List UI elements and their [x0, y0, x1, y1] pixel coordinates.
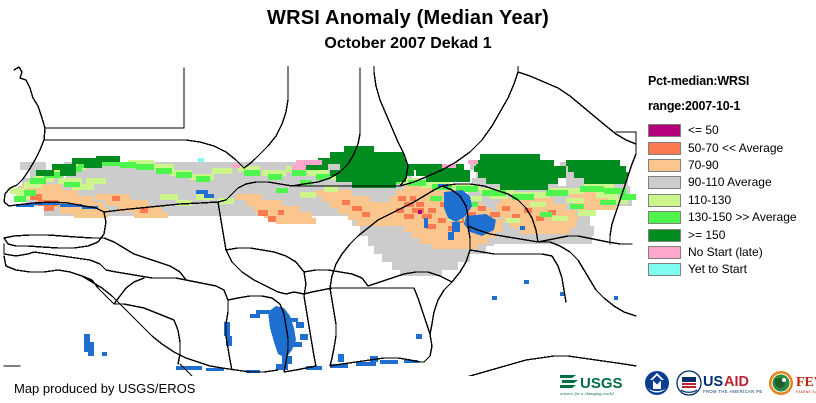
svg-text:FAMINE EARLY WARNING SYSTEMS N: FAMINE EARLY WARNING SYSTEMS NETWORK	[796, 390, 816, 394]
legend-swatch-yet-to-start	[648, 263, 681, 276]
legend-item-no-start[interactable]: No Start (late)	[648, 244, 816, 261]
class-lte-50	[418, 210, 422, 214]
legend-swatch-90-110	[648, 176, 681, 189]
legend-label-no-start: No Start (late)	[688, 246, 763, 259]
legend-label-50-70: 50-70 << Average	[688, 142, 783, 155]
map-credit: Map produced by USGS/EROS	[14, 381, 195, 396]
legend-items-list: <= 50 50-70 << Average 70-90 90-110 Aver…	[648, 122, 816, 279]
legend-swatch-110-130	[648, 194, 681, 207]
legend-label-110-130: 110-130	[688, 194, 731, 207]
legend-label-lte-50: <= 50	[688, 124, 719, 137]
noaa-logo-icon	[644, 369, 670, 397]
legend-range: range:2007-10-1	[648, 99, 816, 113]
fewsnet-logo[interactable]: FEWS NET FAMINE EARLY WARNING SYSTEMS NE…	[768, 369, 816, 397]
legend-swatch-70-90	[648, 159, 681, 172]
map-svg	[0, 66, 640, 376]
svg-text:FEWS NET: FEWS NET	[796, 375, 816, 390]
fewsnet-logo-icon: FEWS NET FAMINE EARLY WARNING SYSTEMS NE…	[768, 369, 816, 397]
legend-title: Pct-median:WRSI	[648, 74, 816, 88]
page-subtitle: October 2007 Dekad 1	[0, 34, 816, 54]
legend-panel: Pct-median:WRSI range:2007-10-1 <= 50 50…	[648, 74, 816, 279]
legend-swatch-no-start	[648, 246, 681, 259]
usgs-logo-icon: USGS science for a changing world	[558, 369, 638, 397]
usaid-logo[interactable]: US AID FROM THE AMERICAN PEOPLE	[676, 369, 762, 397]
legend-swatch-50-70	[648, 142, 681, 155]
legend-label-yet-to-start: Yet to Start	[688, 263, 747, 276]
usgs-logo[interactable]: USGS science for a changing world	[558, 369, 638, 397]
legend-item-yet-to-start[interactable]: Yet to Start	[648, 261, 816, 278]
legend-item-gte-150[interactable]: >= 150	[648, 226, 816, 243]
map-canvas[interactable]	[0, 66, 640, 376]
svg-text:USGS: USGS	[580, 375, 623, 392]
noaa-logo[interactable]	[644, 369, 670, 397]
legend-swatch-lte-50	[648, 124, 681, 137]
svg-text:AID: AID	[724, 374, 749, 390]
legend-swatch-130-150	[648, 211, 681, 224]
title-block: WRSI Anomaly (Median Year) October 2007 …	[0, 6, 816, 54]
legend-item-50-70[interactable]: 50-70 << Average	[648, 139, 816, 156]
legend-label-70-90: 70-90	[688, 159, 719, 172]
legend-item-90-110[interactable]: 90-110 Average	[648, 174, 816, 191]
agency-logo-bar: USGS science for a changing world US AID…	[558, 368, 816, 398]
svg-text:US: US	[703, 374, 723, 390]
legend-item-70-90[interactable]: 70-90	[648, 157, 816, 174]
class-yet-to-start	[198, 158, 204, 162]
svg-text:FROM THE AMERICAN PEOPLE: FROM THE AMERICAN PEOPLE	[703, 389, 762, 394]
svg-text:science for a changing world: science for a changing world	[560, 391, 614, 396]
legend-label-gte-150: >= 150	[688, 229, 725, 242]
legend-label-90-110: 90-110 Average	[688, 176, 772, 189]
legend-item-110-130[interactable]: 110-130	[648, 192, 816, 209]
legend-label-130-150: 130-150 >> Average	[688, 211, 797, 224]
page-title: WRSI Anomaly (Median Year)	[0, 6, 816, 30]
legend-item-lte-50[interactable]: <= 50	[648, 122, 816, 139]
usaid-logo-icon: US AID FROM THE AMERICAN PEOPLE	[676, 369, 762, 397]
legend-swatch-gte-150	[648, 229, 681, 242]
legend-item-130-150[interactable]: 130-150 >> Average	[648, 209, 816, 226]
